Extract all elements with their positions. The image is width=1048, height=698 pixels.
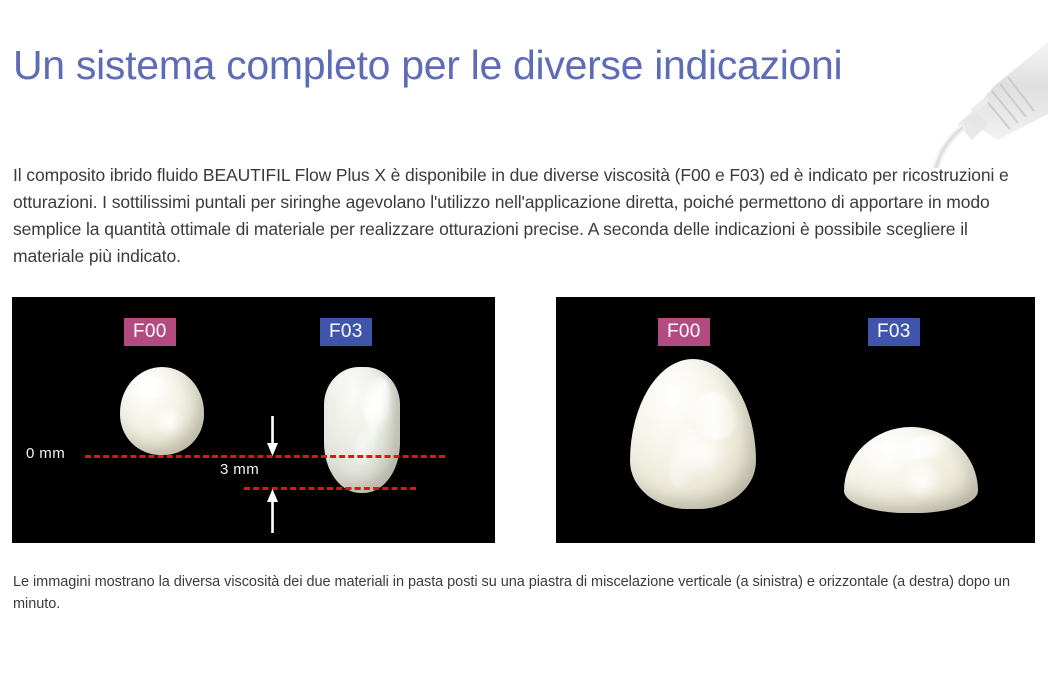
blob-gloss [360,376,393,429]
badge-f00-vertical: F00 [124,318,176,346]
composite-blob-f03-vertical [324,367,400,493]
measure-line-0mm [85,455,445,458]
slump-arrow-down [266,416,279,456]
badge-f03-horizontal: F03 [868,318,920,346]
blob-gloss [132,376,171,399]
figure-panel-horizontal-plate: F00 F03 [556,297,1035,543]
blob-gloss [893,431,952,463]
measure-label-3mm: 3 mm [220,461,259,479]
measure-label-0mm: 0 mm [26,445,65,463]
badge-f03-vertical: F03 [320,318,372,346]
figure-row: F00 F03 0 mm 3 mm F00 F03 [12,297,1036,543]
composite-blob-f03-horizontal [844,427,978,513]
blob-gloss [867,453,903,474]
blob-gloss [684,385,744,447]
blob-gloss [351,421,381,467]
composite-blob-f00-horizontal [630,359,756,509]
composite-blob-f00-vertical [120,367,204,455]
page-title: Un sistema completo per le diverse indic… [13,39,842,91]
figure-caption: Le immagini mostrano la diversa viscosit… [13,571,1035,615]
figure-panel-vertical-plate: F00 F03 0 mm 3 mm [12,297,495,543]
blob-gloss [665,426,703,490]
badge-f00-horizontal: F00 [658,318,710,346]
intro-paragraph: Il composito ibrido fluido BEAUTIFIL Flo… [13,162,1035,270]
syringe-tip-icon [898,28,1048,168]
slump-arrow-up [266,489,279,533]
